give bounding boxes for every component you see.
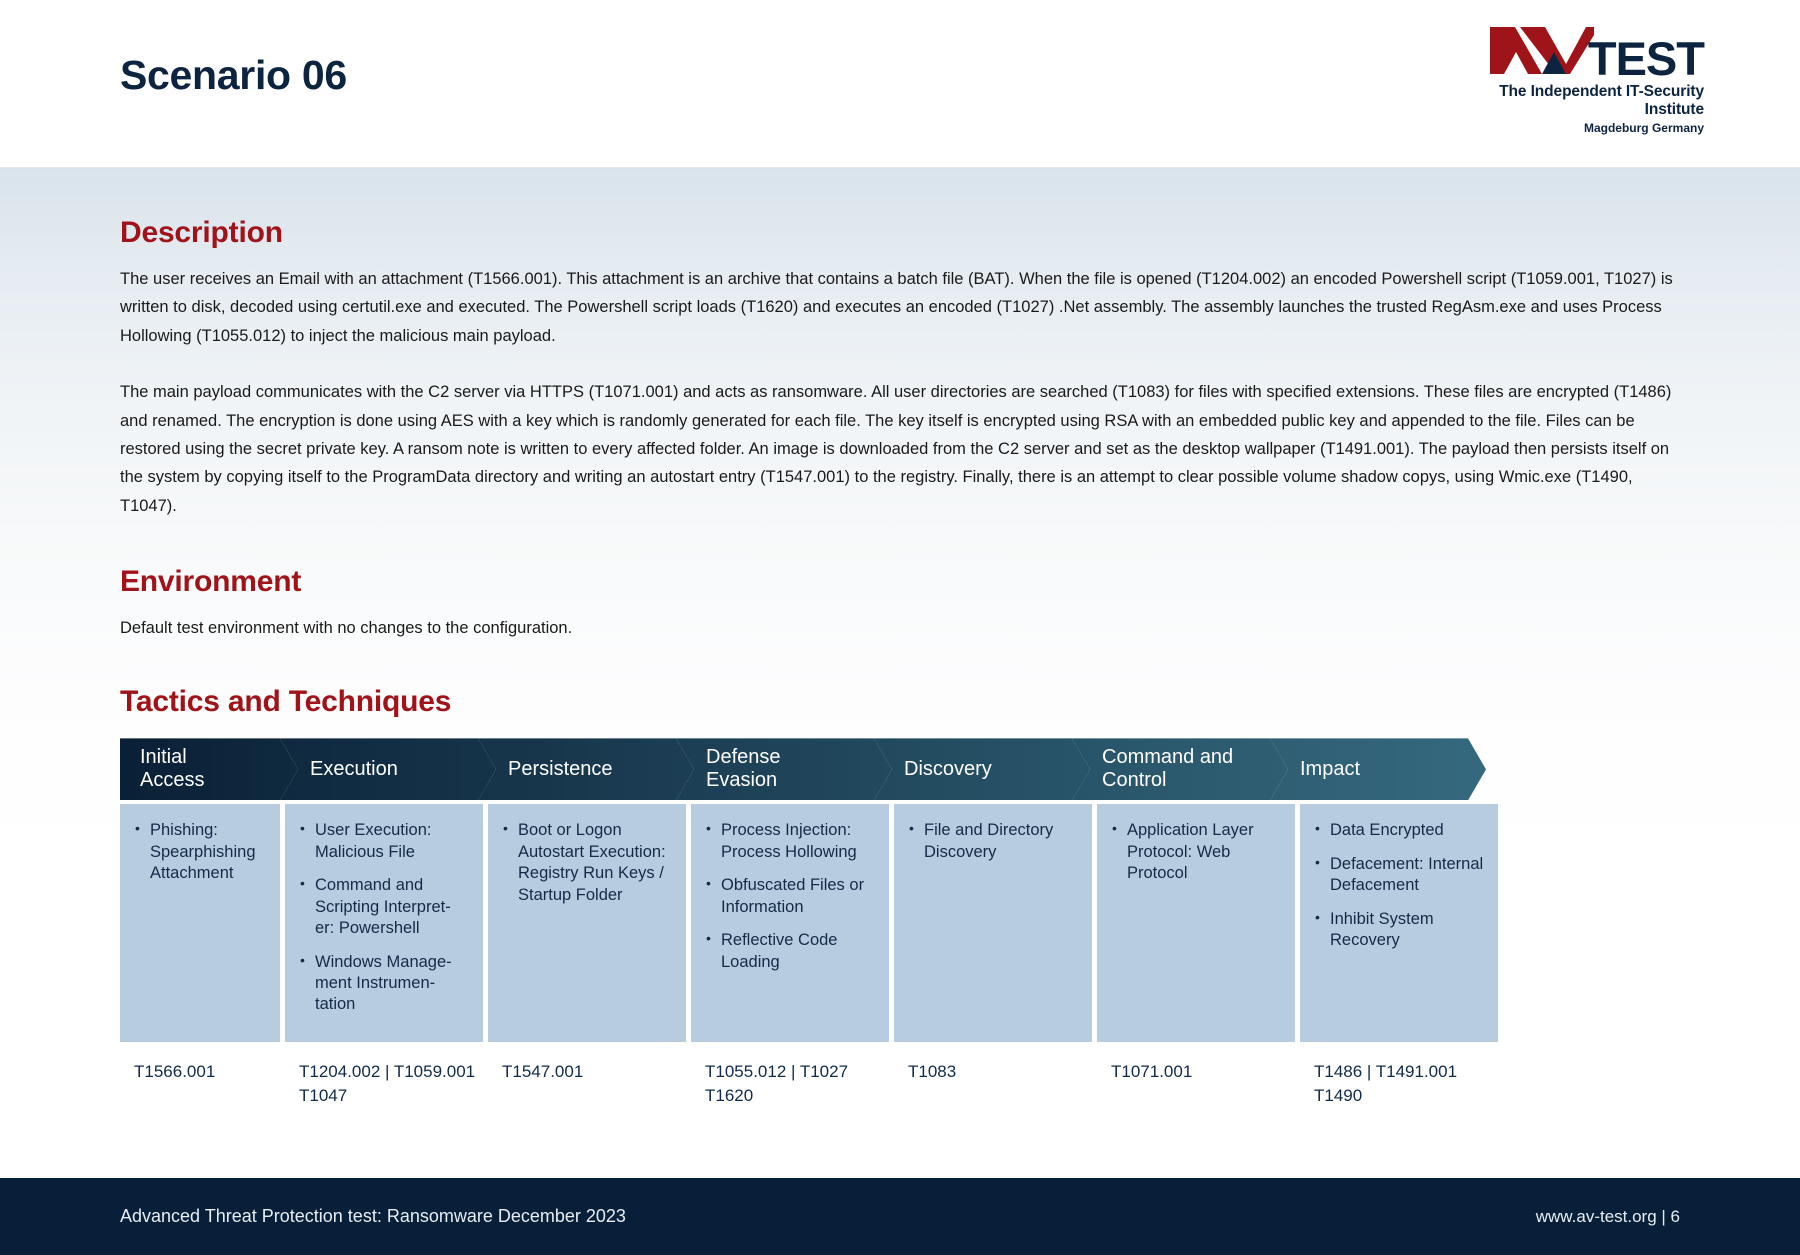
technique-ids-4: T1083: [894, 1060, 1092, 1108]
technique-cell-1: User Execution: Malicious FileCommand an…: [285, 804, 483, 1042]
logo-wordmark: TEST: [1588, 37, 1704, 80]
technique-cell-0: Phishing: Spearphishing Attachment: [120, 804, 280, 1042]
technique-item: Application Layer Protocol: Web Protocol: [1111, 820, 1281, 884]
logo-tagline: The Independent IT-Security Institute: [1454, 83, 1704, 119]
technique-item: Process Injection: Process Hollowing: [705, 820, 875, 863]
technique-item: Obfuscated Files or Information: [705, 875, 875, 918]
technique-ids-5: T1071.001: [1097, 1060, 1295, 1108]
description-paragraph-2: The main payload communicates with the C…: [120, 378, 1680, 520]
tactic-header-2[interactable]: Persistence: [478, 738, 694, 800]
tactic-header-1[interactable]: Execution: [280, 738, 496, 800]
technique-item: Windows Manage­ ment Instrumen­ tation: [299, 952, 469, 1016]
technique-cell-6: Data EncryptedDefacement: Internal Defac…: [1300, 804, 1498, 1042]
tactics-matrix: Initial AccessExecutionPersistenceDefens…: [120, 738, 1680, 1108]
tactics-ids-row: T1566.001T1204.002 | T1059.001 T1047T154…: [120, 1060, 1680, 1108]
tactic-header-6[interactable]: Impact: [1270, 738, 1486, 800]
av-test-logo: TEST The Independent IT-Security Institu…: [1454, 26, 1704, 135]
tactics-techniques-row: Phishing: Spearphishing AttachmentUser E…: [120, 804, 1680, 1042]
tactic-header-0[interactable]: Initial Access: [120, 738, 298, 800]
technique-ids-2: T1547.001: [488, 1060, 686, 1108]
technique-item: File and Directory Discovery: [908, 820, 1078, 863]
technique-item: Boot or Logon Autostart Execution: Regis…: [502, 820, 672, 906]
technique-item: Command and Scripting Interpret­ er: Pow…: [299, 875, 469, 939]
tactic-header-4[interactable]: Discovery: [874, 738, 1090, 800]
technique-cell-3: Process Injection: Process HollowingObfu…: [691, 804, 889, 1042]
technique-ids-0: T1566.001: [120, 1060, 280, 1108]
technique-item: Inhibit System Recovery: [1314, 909, 1484, 952]
technique-ids-6: T1486 | T1491.001 T1490: [1300, 1060, 1498, 1108]
technique-item: Reflective Code Loading: [705, 930, 875, 973]
av-mark-icon: [1490, 26, 1594, 80]
environment-text: Default test environment with no changes…: [120, 614, 1680, 642]
technique-ids-1: T1204.002 | T1059.001 T1047: [285, 1060, 483, 1108]
tactics-heading: Tactics and Techniques: [120, 685, 1680, 719]
technique-item: User Execution: Malicious File: [299, 820, 469, 863]
description-heading: Description: [120, 216, 1680, 250]
technique-item: Data Encrypted: [1314, 820, 1484, 841]
description-paragraph-1: The user receives an Email with an attac…: [120, 265, 1680, 350]
footer-test-name: Advanced Threat Protection test: Ransomw…: [120, 1206, 626, 1227]
technique-cell-4: File and Directory Discovery: [894, 804, 1092, 1042]
technique-cell-5: Application Layer Protocol: Web Protocol: [1097, 804, 1295, 1042]
footer-url-page: www.av-test.org | 6: [1536, 1207, 1680, 1227]
tactic-header-5[interactable]: Command and Control: [1072, 738, 1288, 800]
technique-item: Phishing: Spearphishing Attachment: [134, 820, 266, 884]
page-content: Description The user receives an Email w…: [0, 168, 1800, 1178]
technique-ids-3: T1055.012 | T1027 T1620: [691, 1060, 889, 1108]
tactic-header-3[interactable]: Defense Evasion: [676, 738, 892, 800]
page-footer: Advanced Threat Protection test: Ransomw…: [0, 1178, 1800, 1255]
technique-item: Defacement: Internal Defacement: [1314, 854, 1484, 897]
environment-heading: Environment: [120, 565, 1680, 599]
technique-cell-2: Boot or Logon Autostart Execution: Regis…: [488, 804, 686, 1042]
tactics-header-row: Initial AccessExecutionPersistenceDefens…: [120, 738, 1680, 800]
scenario-page: Scenario 06 TEST The Independent IT-Secu…: [0, 0, 1800, 1255]
page-header: Scenario 06 TEST The Independent IT-Secu…: [0, 0, 1800, 168]
page-title: Scenario 06: [120, 52, 347, 99]
logo-location: Magdeburg Germany: [1454, 121, 1704, 135]
